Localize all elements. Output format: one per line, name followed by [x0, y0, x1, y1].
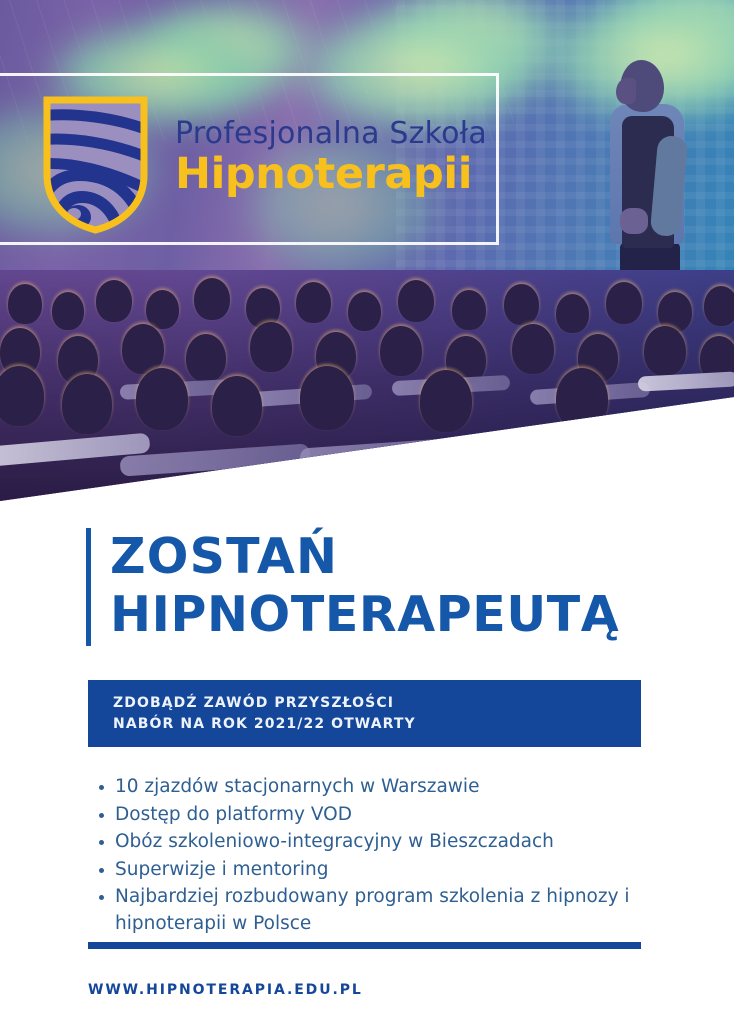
audience-crowd [0, 270, 734, 505]
poster: Profesjonalna Szkoła Hipnoterapii ZOSTAŃ… [0, 0, 734, 1024]
headline-line-1: ZOSTAŃ [110, 528, 619, 586]
list-item: Dostęp do platformy VOD [92, 802, 672, 829]
audience-arm [300, 435, 491, 468]
speaker-face [616, 78, 636, 104]
audience-head [0, 366, 44, 426]
list-item: Superwizje i mentoring [92, 857, 672, 884]
audience-head [452, 290, 486, 330]
audience-head [122, 324, 164, 374]
seat-back [328, 452, 451, 505]
audience-head [250, 322, 292, 372]
audience-head [644, 326, 686, 376]
logo-line-1: Profesjonalna Szkoła [175, 118, 505, 150]
audience-head [606, 282, 642, 324]
audience-head [380, 326, 422, 376]
logo-line-2: Hipnoterapii [175, 152, 505, 197]
audience-head [420, 370, 472, 432]
audience-head [300, 366, 354, 430]
audience-head [704, 286, 734, 326]
footer-divider [88, 942, 641, 949]
audience-head [512, 324, 554, 374]
audience-head [348, 292, 381, 331]
audience-arm [638, 371, 734, 391]
headline-line-2: HIPNOTERAPEUTĄ [110, 586, 619, 644]
speaker-hand [620, 208, 648, 234]
audience-head [398, 280, 434, 322]
seat-back [596, 412, 734, 505]
audience-head [186, 334, 226, 382]
audience-head [296, 282, 331, 323]
audience-head [212, 376, 262, 436]
audience-head [8, 284, 42, 324]
list-item: 10 zjazdów stacjonarnych w Warszawie [92, 774, 672, 801]
audience-head [52, 292, 84, 330]
website-url[interactable]: WWW.HIPNOTERAPIA.EDU.PL [88, 982, 363, 998]
audience-head [96, 280, 132, 322]
audience-head [504, 284, 539, 325]
logo-wordmark: Profesjonalna Szkoła Hipnoterapii [175, 118, 505, 197]
list-item: Obóz szkoleniowo-integracyjny w Bieszcza… [92, 829, 672, 856]
audience-head [146, 290, 179, 329]
audience-head [136, 368, 188, 430]
banner-line-1: ZDOBĄDŹ ZAWÓD PRZYSZŁOŚCI [113, 693, 641, 714]
audience-arm [469, 445, 640, 480]
audience-head [556, 294, 589, 333]
banner-line-2: NABÓR NA ROK 2021/22 OTWARTY [113, 714, 641, 735]
list-item: Najbardziej rozbudowany program szkoleni… [92, 884, 672, 937]
shield-wave-icon [40, 93, 151, 236]
features-list: 10 zjazdów stacjonarnych w Warszawie Dos… [92, 774, 672, 938]
headline-block: ZOSTAŃ HIPNOTERAPEUTĄ [86, 528, 619, 644]
audience-head [556, 368, 608, 430]
audience-head [194, 278, 230, 320]
promo-banner: ZDOBĄDŹ ZAWÓD PRZYSZŁOŚCI NABÓR NA ROK 2… [88, 680, 641, 747]
headline-accent-bar [86, 528, 91, 646]
audience-head [62, 374, 112, 434]
